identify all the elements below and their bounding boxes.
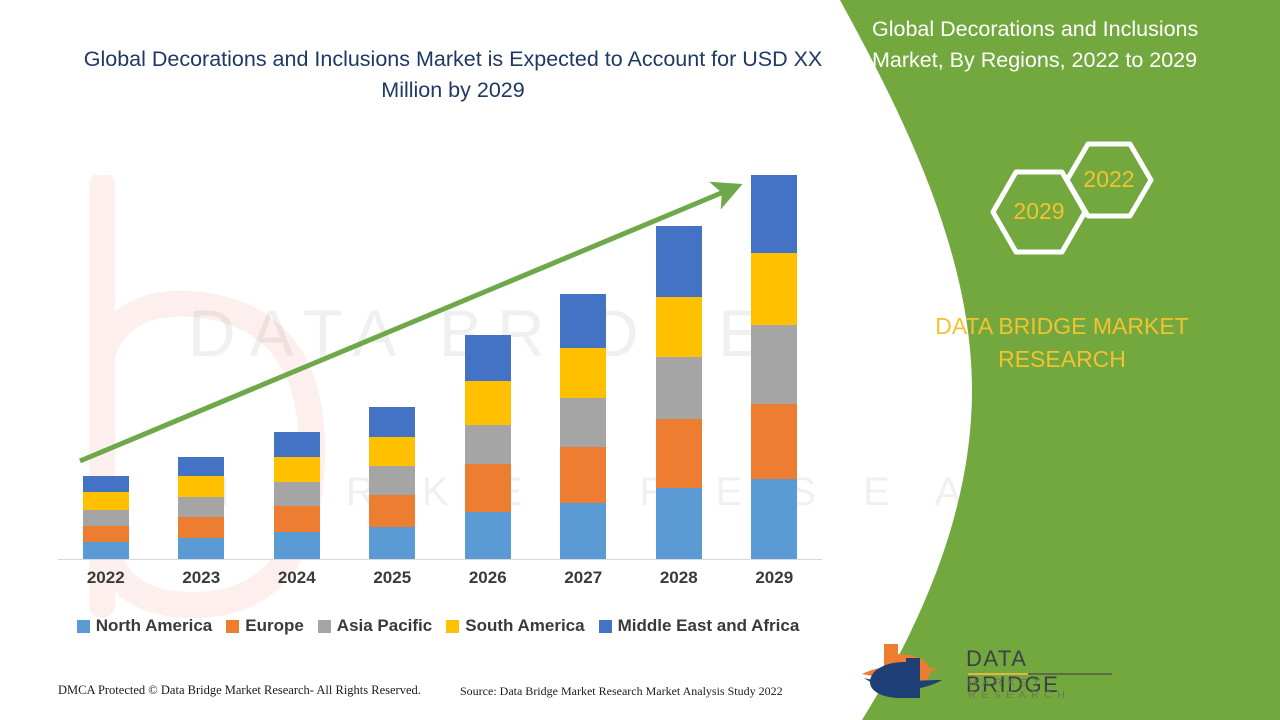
legend-label: Middle East and Africa: [618, 616, 800, 636]
bar-segment: [560, 348, 606, 398]
bar-chart-plot-area: [58, 170, 822, 560]
x-axis-label: 2028: [639, 568, 719, 588]
bar-column: [83, 476, 129, 559]
bar-segment: [751, 175, 797, 253]
dbmr-mark-icon: [860, 640, 960, 702]
hexagon-back-label: 2029: [993, 198, 1085, 225]
bar-column: [656, 226, 702, 559]
dbmr-logo-rule: [968, 673, 1112, 675]
bar-segment: [369, 407, 415, 437]
bar-segment: [178, 497, 224, 517]
legend-label: North America: [96, 616, 213, 636]
bar-segment: [560, 503, 606, 559]
bar-segment: [751, 253, 797, 325]
legend-item[interactable]: Europe: [226, 616, 304, 636]
bar-segment: [465, 512, 511, 559]
source-text: Source: Data Bridge Market Research Mark…: [460, 684, 783, 699]
chart-pane: Global Decorations and Inclusions Market…: [0, 0, 880, 720]
bar-segment: [751, 404, 797, 478]
bar-segment: [83, 476, 129, 492]
x-axis-label: 2024: [257, 568, 337, 588]
x-axis-line: [58, 559, 822, 560]
bar-segment: [656, 419, 702, 488]
bar-column: [751, 175, 797, 559]
legend-swatch-icon: [77, 620, 90, 633]
hexagon-front-label: 2022: [1067, 166, 1151, 193]
bar-segment: [83, 492, 129, 510]
bar-segment: [369, 495, 415, 526]
page-title: Global Decorations and Inclusions Market…: [58, 44, 848, 106]
infographic-slide: DATA BRIDGE M A R K E T R E S E A R C H …: [0, 0, 1280, 720]
bar-segment: [369, 527, 415, 559]
bar-segment: [465, 335, 511, 381]
bar-segment: [369, 466, 415, 495]
bar-column: [465, 335, 511, 559]
bar-segment: [656, 297, 702, 358]
bar-segment: [178, 517, 224, 538]
legend-item[interactable]: Asia Pacific: [318, 616, 432, 636]
x-axis-label: 2026: [448, 568, 528, 588]
x-axis-label: 2029: [734, 568, 814, 588]
bar-segment: [656, 226, 702, 297]
bar-segment: [274, 532, 320, 559]
bar-segment: [751, 479, 797, 559]
bar-segment: [274, 432, 320, 457]
hexagon-group: 2029 2022: [970, 138, 1200, 298]
bar-column: [274, 432, 320, 559]
legend-label: Europe: [245, 616, 304, 636]
x-axis-labels: 20222023202420252026202720282029: [58, 568, 822, 598]
legend-swatch-icon: [446, 620, 459, 633]
bar-segment: [274, 506, 320, 532]
bar-column: [369, 407, 415, 560]
bar-segment: [83, 526, 129, 543]
bar-segment: [656, 488, 702, 559]
bar-segment: [560, 447, 606, 502]
bar-segment: [465, 381, 511, 425]
brand-name: DATA BRIDGE MARKET RESEARCH: [862, 310, 1262, 375]
legend-item[interactable]: South America: [446, 616, 584, 636]
bar-segment: [178, 538, 224, 559]
bar-segment: [751, 325, 797, 404]
bar-segment: [178, 457, 224, 477]
legend-item[interactable]: Middle East and Africa: [599, 616, 800, 636]
bar-segment: [178, 476, 224, 497]
x-axis-label: 2022: [66, 568, 146, 588]
chart-legend: North AmericaEuropeAsia PacificSouth Ame…: [0, 616, 876, 636]
dbmr-logo-subtitle: MARKET RESEARCH: [968, 677, 1110, 701]
panel-title: Global Decorations and Inclusions Market…: [872, 14, 1262, 75]
bar-segment: [465, 425, 511, 464]
copyright-text: DMCA Protected © Data Bridge Market Rese…: [58, 683, 421, 698]
bar-segment: [83, 542, 129, 559]
legend-label: Asia Pacific: [337, 616, 432, 636]
legend-swatch-icon: [318, 620, 331, 633]
x-axis-label: 2023: [161, 568, 241, 588]
bar-column: [178, 457, 224, 559]
bar-segment: [369, 437, 415, 466]
legend-swatch-icon: [599, 620, 612, 633]
bar-segment: [83, 510, 129, 526]
legend-item[interactable]: North America: [77, 616, 213, 636]
bar-segment: [560, 398, 606, 447]
bar-column: [560, 294, 606, 559]
bar-segment: [465, 464, 511, 512]
bar-segment: [656, 357, 702, 419]
x-axis-label: 2027: [543, 568, 623, 588]
x-axis-label: 2025: [352, 568, 432, 588]
bar-segment: [274, 482, 320, 506]
dbmr-logo: DATA BRIDGE MARKET RESEARCH: [860, 640, 1110, 702]
bar-segment: [274, 457, 320, 482]
brand-line-2: RESEARCH: [998, 346, 1126, 372]
bar-segment: [560, 294, 606, 348]
brand-line-1: DATA BRIDGE MARKET: [935, 313, 1188, 339]
side-panel: Global Decorations and Inclusions Market…: [840, 0, 1280, 720]
legend-label: South America: [465, 616, 584, 636]
legend-swatch-icon: [226, 620, 239, 633]
